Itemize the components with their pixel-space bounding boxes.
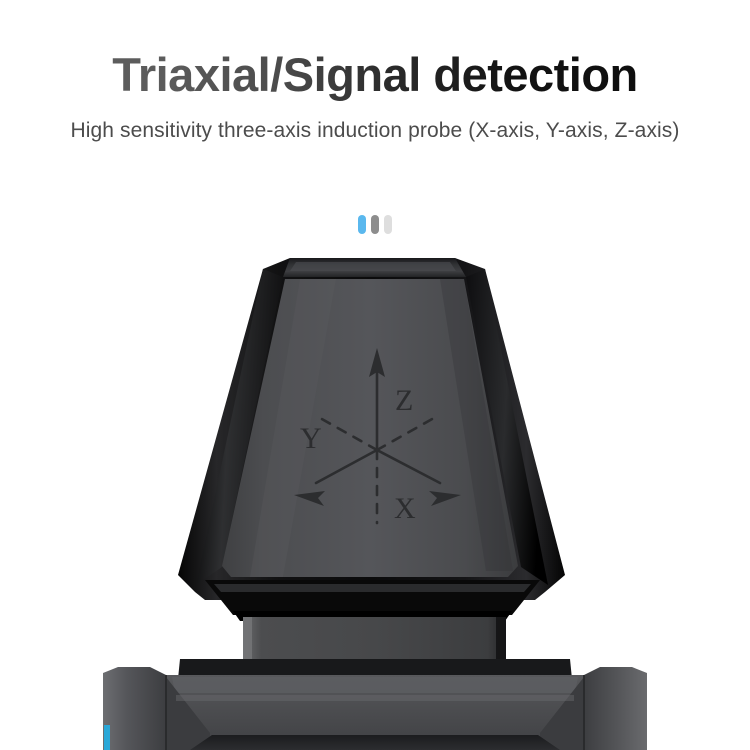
sensor-head-bottom-bezel-highlight	[214, 584, 531, 592]
axis-label-y: Y	[300, 422, 322, 455]
product-feature-page: Triaxial/Signal detection High sensitivi…	[0, 0, 750, 750]
base-accent-led	[104, 725, 110, 750]
sensor-neck-body	[243, 617, 506, 665]
base-recess	[190, 735, 560, 750]
accent-bar-blue-icon	[358, 215, 366, 234]
accent-bar-dark-gray-icon	[371, 215, 379, 234]
page-subtitle: High sensitivity three-axis induction pr…	[0, 102, 750, 143]
base-left-wing	[103, 667, 170, 750]
sensor-neck-right-shadow	[496, 617, 506, 665]
base-top-band	[172, 677, 578, 693]
page-title: Triaxial/Signal detection	[0, 0, 750, 102]
base-right-wing	[580, 667, 647, 750]
product-image: Z X Y	[0, 255, 750, 750]
accent-bars	[0, 215, 750, 234]
sensor-base	[103, 659, 647, 750]
axis-label-z: Z	[395, 384, 413, 417]
accent-bar-light-gray-icon	[384, 215, 392, 234]
sensor-neck-left-highlight	[243, 617, 252, 665]
base-ridge-highlight	[176, 695, 574, 701]
sensor-head: Z X Y	[178, 258, 565, 621]
sensor-neck	[243, 617, 506, 665]
header: Triaxial/Signal detection High sensitivi…	[0, 0, 750, 143]
axis-label-x: X	[394, 492, 416, 525]
sensor-head-cap-highlight	[290, 262, 456, 271]
